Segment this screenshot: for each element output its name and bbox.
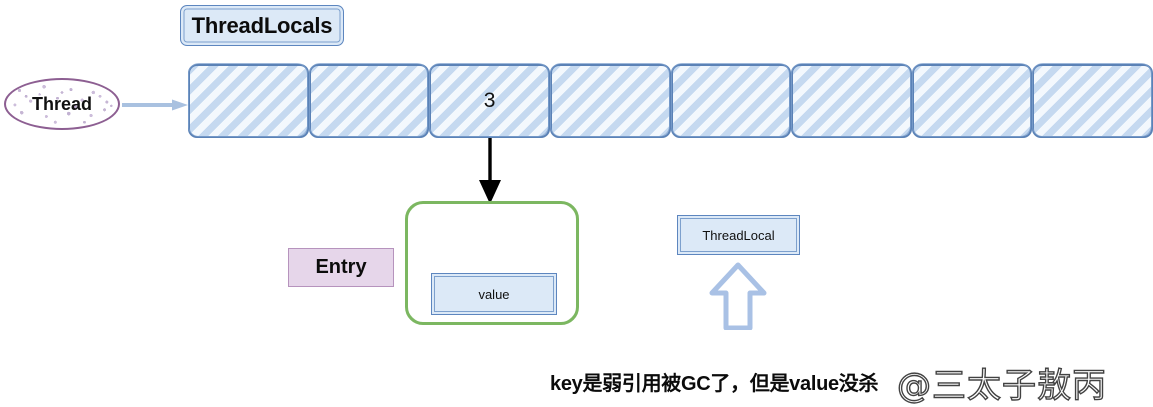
- array-cell[interactable]: [912, 64, 1033, 138]
- caption-text: key是弱引用被GC了，但是value没杀: [550, 367, 878, 396]
- entry-container: value: [405, 201, 579, 325]
- array-cell[interactable]: [550, 64, 671, 138]
- thread-label-text: Thread: [32, 94, 92, 115]
- array-cell[interactable]: [671, 64, 792, 138]
- thread-ellipse: Thread: [4, 78, 120, 130]
- array-cell-hatch-fill: [791, 64, 912, 138]
- array-cell-hatch-fill: [309, 64, 430, 138]
- array-cell[interactable]: [791, 64, 912, 138]
- array-cell-label: 3: [484, 89, 496, 113]
- array-cell-hatch-fill: [550, 64, 671, 138]
- threadlocalmap-array: 3: [188, 64, 1153, 138]
- array-cell[interactable]: [1032, 64, 1153, 138]
- array-cell[interactable]: [309, 64, 430, 138]
- watermark-text: @三太子敖丙: [897, 358, 1107, 407]
- entry-label-text: Entry: [315, 256, 366, 279]
- cell-to-entry-arrow-icon: [472, 138, 508, 204]
- array-cell-selected[interactable]: 3: [429, 64, 550, 138]
- threadlocal-box-label: ThreadLocal: [702, 228, 774, 243]
- array-cell-hatch-fill: [671, 64, 792, 138]
- value-box-label: value: [478, 287, 509, 302]
- threadlocals-label-box: ThreadLocals: [180, 5, 344, 46]
- value-box[interactable]: value: [431, 273, 557, 315]
- array-cell-hatch-fill: [912, 64, 1033, 138]
- array-cell[interactable]: [188, 64, 309, 138]
- diagram-canvas: ThreadLocals Thread 3: [0, 0, 1153, 407]
- hollow-up-arrow-icon: [709, 262, 767, 330]
- threadlocals-label-text: ThreadLocals: [192, 13, 333, 39]
- entry-label-box: Entry: [288, 248, 394, 287]
- thread-to-array-arrow-icon: [122, 99, 188, 111]
- threadlocal-box[interactable]: ThreadLocal: [677, 215, 800, 255]
- array-cell-hatch-fill: [188, 64, 309, 138]
- array-cell-hatch-fill: [1032, 64, 1153, 138]
